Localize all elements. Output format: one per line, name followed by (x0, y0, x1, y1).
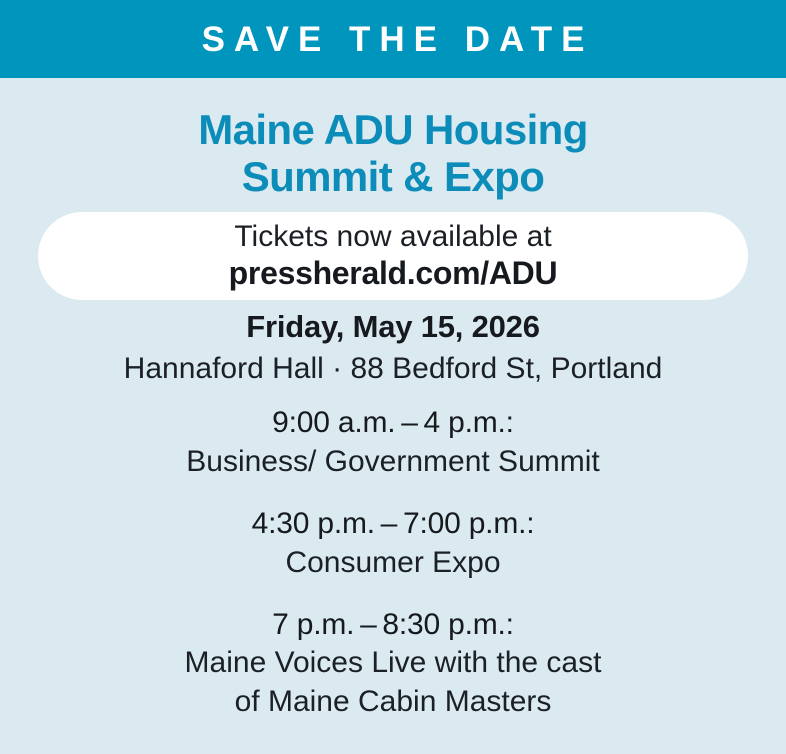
schedule-slot-description: Consumer Expo (0, 543, 786, 582)
save-the-date-flyer: SAVE THE DATE Maine ADU Housing Summit &… (0, 0, 786, 754)
schedule-slot-description-line: of Maine Cabin Masters (0, 682, 786, 721)
schedule-slot-time: 4:30 p.m. – 7:00 p.m.: (0, 505, 786, 543)
ticket-callout-pill[interactable]: Tickets now available at pressherald.com… (38, 212, 748, 300)
schedule-slot: 7 p.m. – 8:30 p.m.: Maine Voices Live wi… (0, 606, 786, 722)
schedule-slot: 4:30 p.m. – 7:00 p.m.: Consumer Expo (0, 505, 786, 582)
event-schedule: 9:00 a.m. – 4 p.m.: Business/ Government… (0, 404, 786, 721)
event-title: Maine ADU Housing Summit & Expo (0, 106, 786, 200)
schedule-slot-description: Business/ Government Summit (0, 442, 786, 481)
schedule-slot: 9:00 a.m. – 4 p.m.: Business/ Government… (0, 404, 786, 481)
schedule-slot-description: Maine Voices Live with the cast of Maine… (0, 643, 786, 721)
event-venue: Hannaford Hall · 88 Bedford St, Portland (0, 349, 786, 388)
event-date: Friday, May 15, 2026 (0, 308, 786, 346)
event-title-line-1: Maine ADU Housing (0, 106, 786, 153)
save-the-date-banner: SAVE THE DATE (0, 0, 786, 78)
schedule-slot-description-line: Consumer Expo (0, 543, 786, 582)
ticket-callout[interactable]: Tickets now available at pressherald.com… (38, 212, 748, 300)
banner-headline: SAVE THE DATE (193, 22, 594, 57)
schedule-slot-time: 7 p.m. – 8:30 p.m.: (0, 606, 786, 644)
schedule-slot-description-line: Business/ Government Summit (0, 442, 786, 481)
schedule-slot-description-line: Maine Voices Live with the cast (0, 643, 786, 682)
schedule-slot-time: 9:00 a.m. – 4 p.m.: (0, 404, 786, 442)
tickets-lead-text: Tickets now available at (234, 219, 551, 256)
event-when-where: Friday, May 15, 2026 Hannaford Hall · 88… (0, 308, 786, 388)
tickets-url[interactable]: pressherald.com/ADU (229, 255, 558, 293)
event-title-line-2: Summit & Expo (0, 153, 786, 200)
